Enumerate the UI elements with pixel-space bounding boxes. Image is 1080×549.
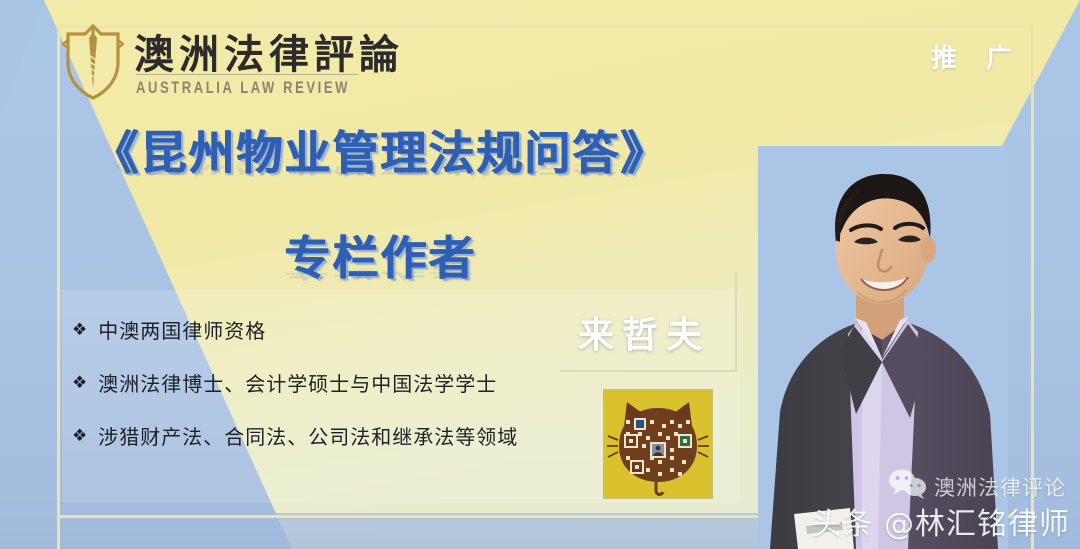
brand-divider	[136, 74, 358, 75]
bullet-diamond-icon: ❖	[72, 371, 88, 396]
nameplate-divider-horizontal	[560, 370, 737, 372]
headline-line-2-reflection: 专栏作者	[70, 259, 690, 281]
list-item: ❖ 中澳两国律师资格	[72, 318, 592, 345]
bullet-diamond-icon: ❖	[72, 318, 88, 343]
person-name: 来哲夫	[578, 306, 710, 358]
promo-badge: 推 广	[931, 38, 1022, 75]
nameplate-divider-vertical	[735, 272, 737, 372]
headline-block: 《昆州物业管理法规问答》 《昆州物业管理法规问答》 专栏作者 专栏作者	[70, 128, 690, 332]
list-item-label: 澳洲法律博士、会计学硕士与中国法学学士	[98, 371, 592, 398]
headline-line-1-reflection: 《昆州物业管理法规问答》	[70, 154, 690, 176]
gold-shield-icon	[62, 22, 124, 100]
list-item-label: 涉猎财产法、合同法、公司法和继承法等领域	[98, 424, 592, 451]
promo-poster: 澳洲法律評論 AUSTRALIA LAW REVIEW 推 广 《昆州物业管理法…	[0, 0, 1080, 549]
brand-name-cn: 澳洲法律評論	[134, 22, 404, 80]
cat-shaped-qr-code[interactable]	[604, 390, 712, 498]
wechat-watermark-label: 澳洲法律评论	[934, 472, 1066, 502]
list-item-label: 中澳两国律师资格	[98, 318, 592, 345]
list-item: ❖ 涉猎财产法、合同法、公司法和继承法等领域	[72, 424, 592, 451]
brand-name-en: AUSTRALIA LAW REVIEW	[136, 78, 350, 97]
brand-logo-block: 澳洲法律評論 AUSTRALIA LAW REVIEW	[58, 16, 368, 106]
toutiao-watermark: 头条 @林汇铭律师	[811, 499, 1070, 543]
credentials-list: ❖ 中澳两国律师资格 ❖ 澳洲法律博士、会计学硕士与中国法学学士 ❖ 涉猎财产法…	[72, 318, 592, 451]
list-item: ❖ 澳洲法律博士、会计学硕士与中国法学学士	[72, 371, 592, 398]
bullet-diamond-icon: ❖	[72, 424, 88, 449]
